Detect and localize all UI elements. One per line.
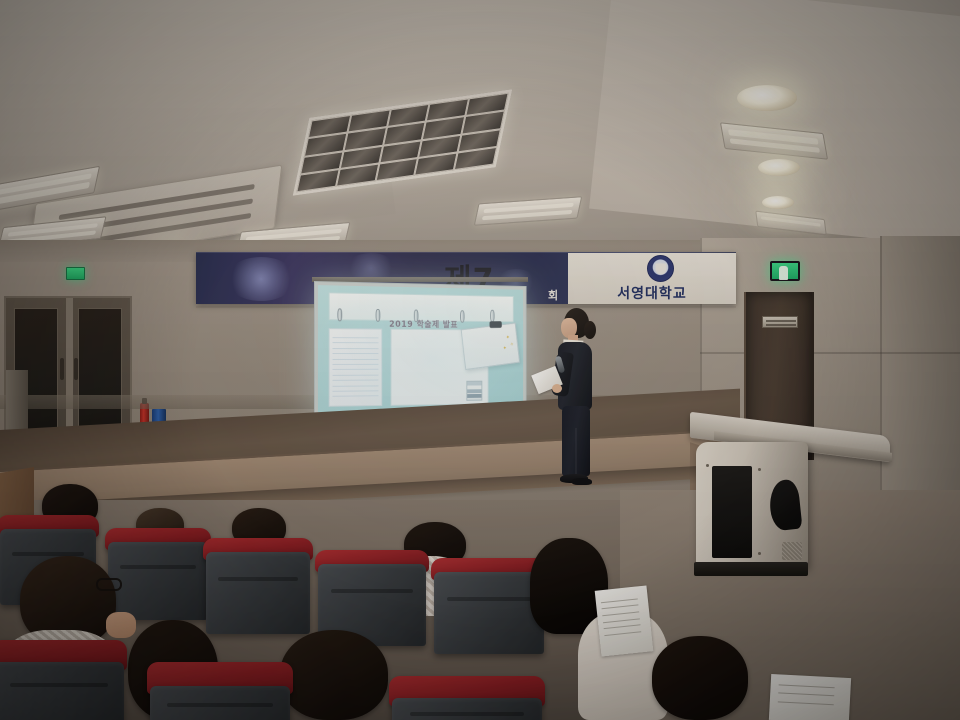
room-nameplate <box>762 316 798 328</box>
presenter-ponytail <box>584 321 596 339</box>
seat-back <box>0 662 124 720</box>
ceiling-downlight <box>762 196 794 209</box>
door-handle[interactable] <box>60 358 64 380</box>
ceiling-downlight <box>758 159 800 176</box>
seat[interactable] <box>150 662 290 720</box>
lectern-handle-cutout <box>767 479 802 532</box>
binder-ring-icon <box>490 309 494 321</box>
seat[interactable] <box>392 676 542 720</box>
presenter <box>548 308 612 498</box>
seat-back <box>434 572 544 654</box>
binder-ring-icon <box>414 310 419 323</box>
seat-back <box>108 542 208 620</box>
presenter-shoe <box>572 478 592 485</box>
lectern-base <box>694 562 808 576</box>
banner-left-label: 회 <box>548 287 558 303</box>
seat-back <box>150 686 290 720</box>
slide-left-note-panel <box>329 328 383 407</box>
lectern-body <box>696 442 808 568</box>
binder-ring-icon <box>338 308 343 321</box>
audience-head <box>280 630 388 720</box>
lectern-front-panel <box>712 466 752 558</box>
presenter-trousers <box>562 406 590 476</box>
university-crest-icon <box>647 255 674 282</box>
door-handle[interactable] <box>74 358 78 380</box>
handout-paper <box>769 674 851 720</box>
seat-back <box>392 698 542 720</box>
seat[interactable] <box>108 528 208 620</box>
seat-back <box>206 552 310 634</box>
audience-hand <box>106 612 136 638</box>
ceiling-downlight <box>737 85 797 111</box>
lectern[interactable] <box>690 424 890 584</box>
seat[interactable] <box>434 558 544 654</box>
lectern-screw <box>758 468 761 471</box>
wall-seam <box>700 352 960 354</box>
exit-sign-left-icon <box>66 267 85 280</box>
seat[interactable] <box>206 538 310 634</box>
slide-note-card: ✦ ✧ ✦ <box>460 323 519 371</box>
audience-head <box>652 636 748 720</box>
handout-paper <box>595 585 654 656</box>
paper-clip-icon <box>489 321 501 328</box>
lectern-screw <box>706 464 709 467</box>
exit-sign-right-icon <box>770 261 800 281</box>
eyeglasses-icon <box>96 578 122 591</box>
banner-university-name: 서영대학교 <box>576 283 728 303</box>
presenter-hand <box>552 384 562 393</box>
lectern-screw <box>758 552 761 555</box>
seat[interactable] <box>0 640 124 720</box>
lectern-vent <box>782 542 802 560</box>
binder-ring-icon <box>460 310 464 322</box>
auditorium-photo: 제7 [일시] 2019년 09월 회 서영대학교 2019 학 <box>0 0 960 720</box>
slide-photo-thumbnail <box>467 381 483 400</box>
door-glass-panel <box>78 308 122 436</box>
